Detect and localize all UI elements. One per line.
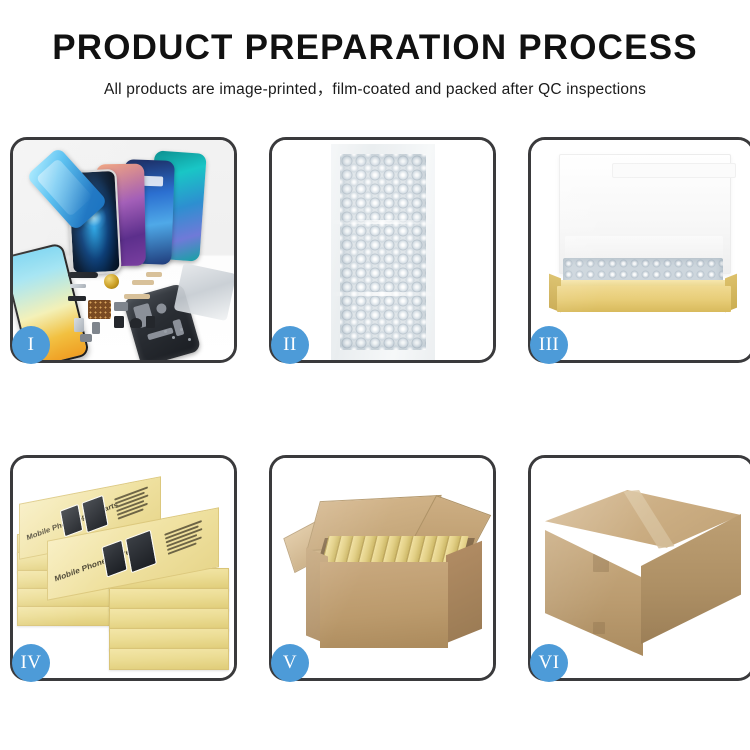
battery-connector-part: [114, 316, 124, 328]
process-step-panel-4: Mobile Phone Spare Parts: [10, 455, 237, 681]
step-badge-1: I: [12, 326, 50, 364]
page-title: PRODUCT PREPARATION PROCESS: [0, 30, 750, 67]
bubble-wrap-package: [331, 144, 435, 360]
box-spec-lines-2: [164, 518, 211, 557]
step-badge-5: V: [271, 644, 309, 682]
box-label-window-4: [125, 530, 157, 574]
step-badge-3: III: [530, 326, 568, 364]
process-step-panel-3: III: [528, 137, 750, 363]
stacked-box-edge: [109, 648, 229, 670]
header: PRODUCT PREPARATION PROCESS All products…: [0, 0, 750, 99]
carton-seam-mark-2: [593, 622, 605, 634]
carton-right-face: [446, 541, 482, 644]
process-step-panel-1: I: [10, 137, 237, 363]
step-3-image: [531, 140, 750, 360]
kraft-box-front: [557, 286, 731, 312]
chip-array-part: [88, 300, 111, 319]
step-5-image: [272, 458, 493, 678]
open-carton: [286, 486, 482, 662]
box-label-window-3: [101, 540, 127, 578]
wrap-seam-2: [331, 292, 435, 296]
button-part: [92, 322, 100, 334]
sealed-carton: [545, 480, 741, 664]
stacked-box-edge: [17, 606, 115, 626]
step-6-image: [531, 458, 750, 678]
box-stack: Mobile Phone Spare Parts: [17, 472, 231, 668]
ic-chip-part: [146, 316, 155, 328]
box-label-window-2: [81, 495, 108, 533]
step-2-image: [272, 140, 493, 360]
process-step-panel-5: V: [269, 455, 496, 681]
lid-tab: [612, 163, 736, 178]
step-1-image: [13, 140, 234, 360]
step-4-image: Mobile Phone Spare Parts: [13, 458, 234, 678]
ribbon-cable-part-2: [146, 272, 162, 277]
phone-screen-fan: [47, 148, 234, 268]
box-label-window: [60, 504, 84, 538]
antenna-strip-part: [68, 272, 98, 278]
carton-front-face: [320, 562, 448, 648]
sim-tray-part: [74, 318, 84, 332]
stacked-box-edge: [109, 588, 229, 610]
step-badge-2: II: [271, 326, 309, 364]
stacked-box-edge: [109, 628, 229, 650]
page-subtitle: All products are image-printed，film-coat…: [0, 77, 750, 99]
flex-cable-part: [68, 296, 86, 301]
ribbon-cable-part: [132, 280, 154, 285]
process-step-grid: I II: [10, 137, 740, 681]
bubble-wrap-texture: [340, 154, 426, 350]
stacked-box-edge: [109, 608, 229, 630]
process-step-panel-6: VI: [528, 455, 750, 681]
step-badge-6: VI: [530, 644, 568, 682]
camera-module-part: [114, 302, 128, 311]
vibrator-part: [130, 318, 142, 328]
carton-front-face: [545, 530, 643, 656]
product-preparation-infographic: PRODUCT PREPARATION PROCESS All products…: [0, 0, 750, 750]
process-step-panel-2: II: [269, 137, 496, 363]
step-badge-4: IV: [12, 644, 50, 682]
speaker-part: [104, 274, 119, 289]
wrap-seam-1: [331, 220, 435, 224]
box-spec-lines: [114, 485, 156, 522]
carton-seam-mark: [593, 554, 609, 572]
power-flex-part: [124, 294, 150, 299]
